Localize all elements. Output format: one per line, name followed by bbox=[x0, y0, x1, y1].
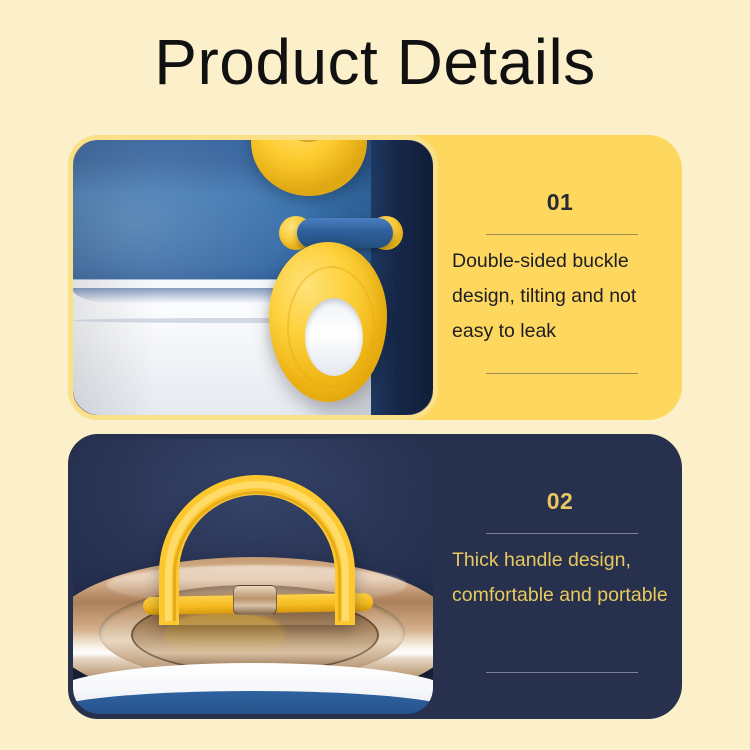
divider-top-01 bbox=[486, 234, 638, 235]
feature-photo-frame-02 bbox=[68, 434, 438, 719]
divider-top-02 bbox=[486, 533, 638, 534]
ring-buckle-inner-groove bbox=[287, 266, 375, 388]
feature-number-01: 01 bbox=[438, 189, 682, 216]
divider-bottom-02 bbox=[486, 672, 638, 673]
feature-description-02: Thick handle design, comfortable and por… bbox=[452, 543, 676, 613]
double-sided-buckle-photo bbox=[73, 140, 433, 415]
feature-card-01: 01 Double-sided buckle design, tilting a… bbox=[68, 135, 682, 420]
feature-card-02: 02 Thick handle design, comfortable and … bbox=[68, 434, 682, 719]
feature-text-panel-01: 01 Double-sided buckle design, tilting a… bbox=[438, 135, 682, 420]
page-title: Product Details bbox=[0, 26, 750, 98]
feature-number-02: 02 bbox=[438, 488, 682, 515]
feature-text-panel-02: 02 Thick handle design, comfortable and … bbox=[438, 434, 682, 719]
divider-bottom-01 bbox=[486, 373, 638, 374]
product-details-page: Product Details 01 bbox=[0, 0, 750, 750]
feature-photo-frame-01 bbox=[68, 135, 438, 420]
handle-center-clip bbox=[233, 585, 277, 615]
feature-description-01: Double-sided buckle design, tilting and … bbox=[452, 244, 676, 349]
blue-hinge-bar bbox=[297, 218, 393, 248]
bottle-blue-section bbox=[73, 691, 433, 714]
photo-dark-background bbox=[371, 140, 433, 415]
thick-handle-photo bbox=[73, 439, 433, 714]
